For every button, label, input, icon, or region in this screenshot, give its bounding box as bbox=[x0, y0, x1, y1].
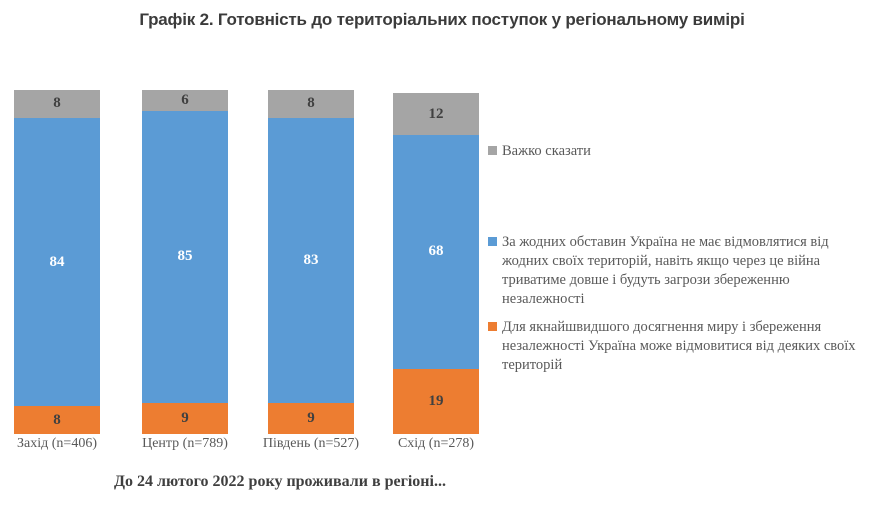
segment-hard-to-say[interactable]: 8 bbox=[268, 90, 354, 118]
legend-marker-gray-icon bbox=[488, 146, 497, 155]
bar-group-skhid: 12 68 19 bbox=[393, 90, 479, 434]
bar-group-zahid: 8 84 8 bbox=[14, 90, 100, 434]
segment-hard-to-say[interactable]: 6 bbox=[142, 90, 228, 111]
legend-label-no-concessions: За жодних обставин Україна не має відмов… bbox=[502, 233, 874, 309]
bar-group-tsentr: 6 85 9 bbox=[142, 90, 228, 434]
legend-item-cede-territory[interactable]: Для якнайшвидшого досягнення миру і збер… bbox=[488, 318, 874, 375]
x-axis-labels: Захід (n=406) Центр (n=789) Південь (n=5… bbox=[0, 436, 500, 458]
page-title: Графік 2. Готовність до територіальних п… bbox=[0, 10, 884, 30]
segment-hard-to-say[interactable]: 12 bbox=[393, 93, 479, 134]
segment-no-concessions[interactable]: 85 bbox=[142, 111, 228, 403]
segment-cede-territory[interactable]: 19 bbox=[393, 369, 479, 434]
segment-hard-to-say[interactable]: 8 bbox=[14, 90, 100, 118]
segment-cede-territory[interactable]: 9 bbox=[142, 403, 228, 434]
chart-caption: До 24 лютого 2022 року проживали в регіо… bbox=[0, 473, 560, 491]
legend-label-hard-to-say: Важко сказати bbox=[502, 142, 591, 161]
segment-cede-territory[interactable]: 8 bbox=[14, 406, 100, 434]
x-axis-label-pivden: Південь (n=527) bbox=[248, 436, 374, 452]
x-axis-label-zahid: Захід (n=406) bbox=[0, 436, 120, 452]
legend-item-hard-to-say[interactable]: Важко сказати bbox=[488, 142, 591, 161]
segment-no-concessions[interactable]: 68 bbox=[393, 135, 479, 369]
legend-item-no-concessions[interactable]: За жодних обставин Україна не має відмов… bbox=[488, 233, 874, 309]
legend-marker-orange-icon bbox=[488, 322, 497, 331]
x-axis-label-tsentr: Центр (n=789) bbox=[122, 436, 248, 452]
segment-no-concessions[interactable]: 84 bbox=[14, 118, 100, 407]
x-axis-label-skhid: Схід (n=278) bbox=[373, 436, 499, 452]
legend-marker-blue-icon bbox=[488, 237, 497, 246]
bar-group-pivden: 8 83 9 bbox=[268, 90, 354, 434]
segment-cede-territory[interactable]: 9 bbox=[268, 403, 354, 434]
legend-label-cede-territory: Для якнайшвидшого досягнення миру і збер… bbox=[502, 318, 874, 375]
segment-no-concessions[interactable]: 83 bbox=[268, 118, 354, 404]
plot-area: 8 84 8 6 85 9 8 83 9 12 68 19 bbox=[0, 86, 500, 434]
